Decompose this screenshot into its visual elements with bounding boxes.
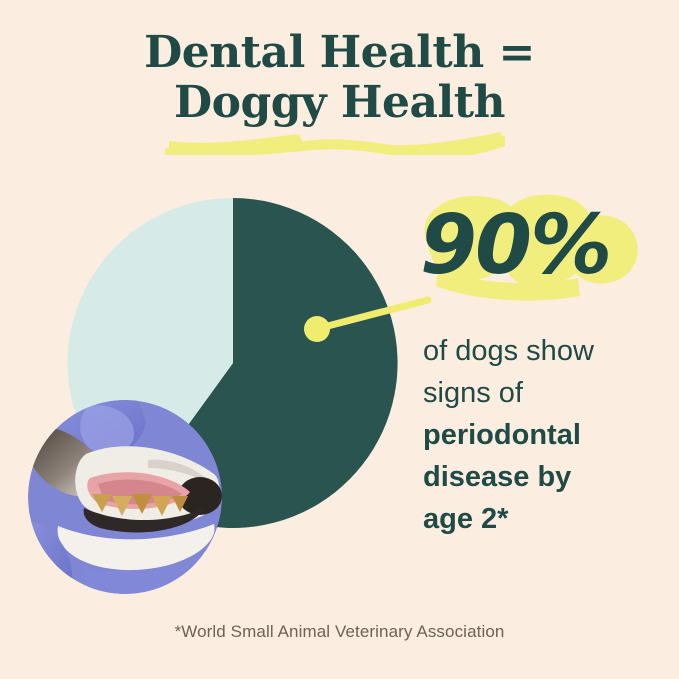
title-line-2: Doggy Health [0, 78, 679, 128]
body-line-1: of dogs show [423, 330, 669, 372]
stat-callout: 90% [408, 186, 658, 311]
title-highlight-swash [163, 129, 507, 155]
body-line-4: disease by [423, 456, 669, 498]
body-line-3: periodontal [423, 414, 669, 456]
body-line-2: signs of [423, 372, 669, 414]
title-line-1: Dental Health = [0, 28, 679, 78]
infographic-canvas: Dental Health = Doggy Health [0, 0, 679, 679]
stat-value: 90% [420, 192, 658, 300]
photo-inset-dog-teeth [28, 400, 222, 594]
body-line-5: age 2* [423, 498, 669, 540]
body-copy: of dogs show signs of periodontal diseas… [423, 330, 669, 540]
footnote-source: *World Small Animal Veterinary Associati… [0, 622, 679, 642]
page-title: Dental Health = Doggy Health [0, 28, 679, 128]
callout-dot [304, 316, 330, 342]
